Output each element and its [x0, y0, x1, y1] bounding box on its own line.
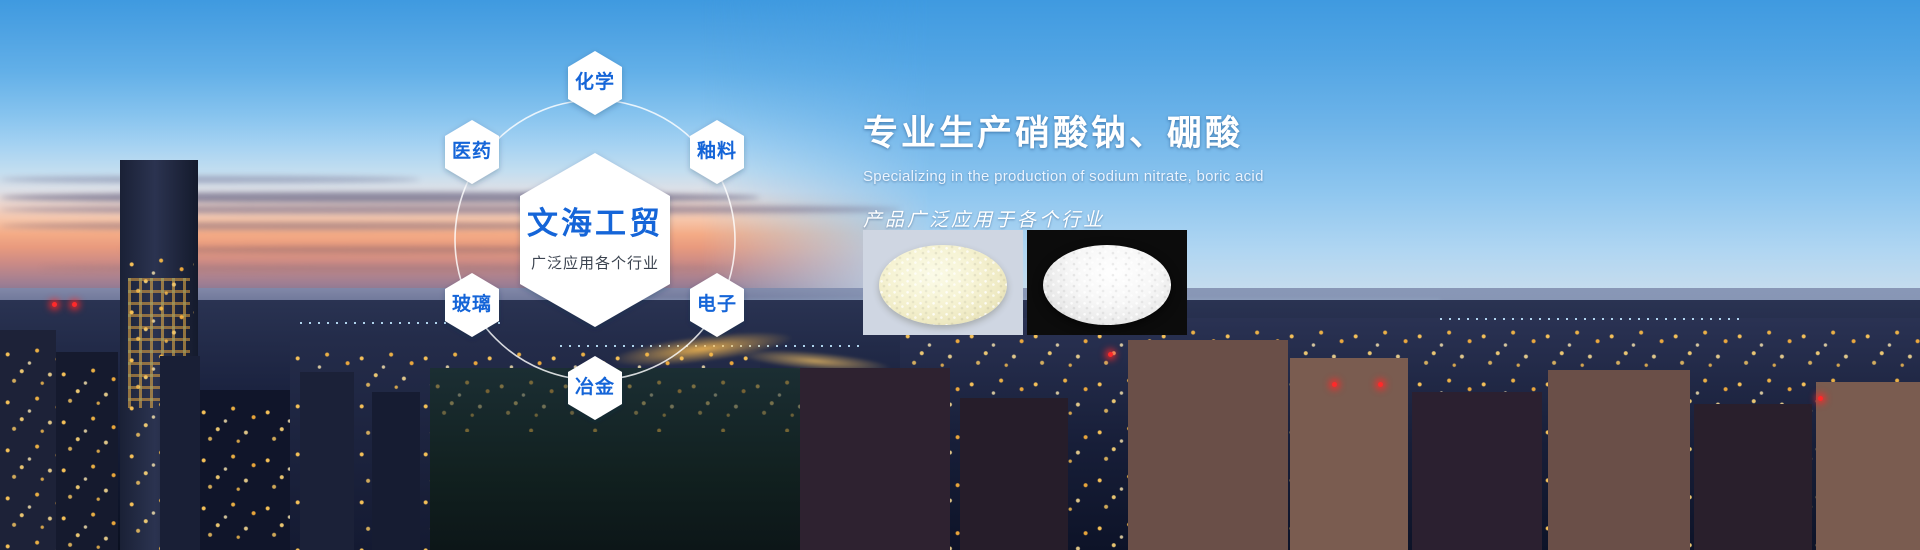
city-building	[960, 398, 1068, 550]
product-photo-boric-acid[interactable]	[1027, 230, 1187, 335]
subheadline-english: Specializing in the production of sodium…	[863, 168, 1563, 185]
hero-banner: 文海工贸 广泛应用各个行业 化学 釉料 电子 冶金 玻璃 医药 专业生产硝酸钠、…	[0, 0, 1920, 550]
aviation-warning-light	[72, 302, 77, 307]
banner-copy: 专业生产硝酸钠、硼酸 Specializing in the productio…	[863, 105, 1563, 232]
powder-sample-cream	[879, 245, 1007, 325]
city-building	[160, 356, 200, 550]
aviation-warning-light	[1378, 382, 1383, 387]
tagline: 产品广泛应用于各个行业	[863, 205, 1563, 232]
city-building	[0, 330, 56, 550]
city-building	[300, 372, 354, 550]
hex-shape-electronics	[690, 273, 744, 337]
city-building	[1816, 382, 1920, 550]
aviation-warning-light	[52, 302, 57, 307]
city-building	[1694, 404, 1812, 550]
aviation-warning-light	[1332, 382, 1337, 387]
hex-shape-metallurgy	[568, 356, 622, 420]
city-building	[800, 368, 950, 550]
hexagon-diagram: 文海工贸 广泛应用各个行业 化学 釉料 电子 冶金 玻璃 医药	[430, 25, 760, 445]
bridge-lights	[1440, 318, 1740, 320]
headline: 专业生产硝酸钠、硼酸	[863, 105, 1563, 156]
city-building	[1548, 370, 1690, 550]
hex-shape-glaze	[690, 120, 744, 184]
hex-shape-pharmaceutical	[445, 120, 499, 184]
aviation-warning-light	[1818, 396, 1823, 401]
city-building	[372, 392, 420, 550]
aviation-warning-light	[1108, 352, 1113, 357]
hex-shape-glass	[445, 273, 499, 337]
cloud-band	[0, 176, 420, 183]
city-building	[56, 352, 118, 550]
city-building	[1412, 392, 1542, 550]
powder-grain-texture	[1043, 245, 1171, 325]
hex-center-shape	[520, 153, 670, 327]
city-building	[196, 390, 292, 550]
powder-sample-white	[1043, 245, 1171, 325]
product-photo-sodium-nitrate[interactable]	[863, 230, 1023, 335]
hex-shape-chemistry	[568, 51, 622, 115]
powder-grain-texture	[879, 245, 1007, 325]
city-building	[1128, 340, 1288, 550]
product-photo-group	[863, 230, 1187, 335]
city-building	[1290, 358, 1408, 550]
